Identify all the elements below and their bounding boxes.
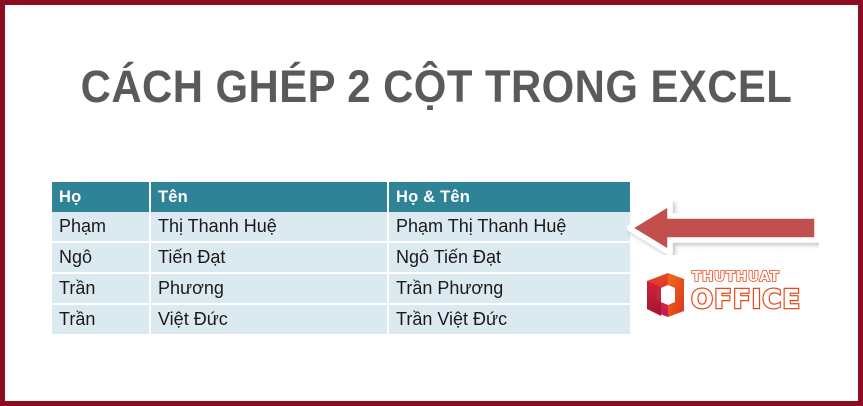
table-row: Trần Phương Trần Phương	[52, 273, 630, 304]
cell-ten: Phương	[150, 273, 388, 304]
logo-line-office: OFFICE	[691, 285, 801, 315]
column-header-ten: Tên	[150, 182, 388, 212]
cell-ho: Trần	[52, 304, 150, 334]
column-header-ho-ten: Họ & Tên	[388, 182, 630, 212]
page-title: CÁCH GHÉP 2 CỘT TRONG EXCEL	[35, 61, 838, 113]
cell-ho: Trần	[52, 273, 150, 304]
cell-ho: Phạm	[52, 212, 150, 242]
cell-ten: Tiến Đạt	[150, 242, 388, 273]
cell-ho-ten: Trần Phương	[388, 273, 630, 304]
names-table: Họ Tên Họ & Tên Phạm Thị Thanh Huệ Phạm …	[52, 182, 630, 334]
left-arrow-icon	[627, 201, 819, 255]
logo-line-thuthuat: THUTHUAT	[692, 270, 780, 285]
brand-logo: THUTHUAT OFFICE	[641, 269, 801, 321]
cell-ho-ten: Phạm Thị Thanh Huệ	[388, 212, 630, 242]
cell-ten: Thị Thanh Huệ	[150, 212, 388, 242]
column-header-ho: Họ	[52, 182, 150, 212]
table-header-row: Họ Tên Họ & Tên	[52, 182, 630, 212]
logo-wordmark: THUTHUAT OFFICE	[691, 269, 803, 319]
office-logo-icon	[641, 272, 685, 318]
cell-ten: Việt Đức	[150, 304, 388, 334]
table-row: Phạm Thị Thanh Huệ Phạm Thị Thanh Huệ	[52, 212, 630, 242]
cell-ho-ten: Trần Việt Đức	[388, 304, 630, 334]
table-row: Trần Việt Đức Trần Việt Đức	[52, 304, 630, 334]
cell-ho-ten: Ngô Tiến Đạt	[388, 242, 630, 273]
table-row: Ngô Tiến Đạt Ngô Tiến Đạt	[52, 242, 630, 273]
slide-canvas: CÁCH GHÉP 2 CỘT TRONG EXCEL Họ Tên Họ & …	[0, 0, 863, 406]
cell-ho: Ngô	[52, 242, 150, 273]
